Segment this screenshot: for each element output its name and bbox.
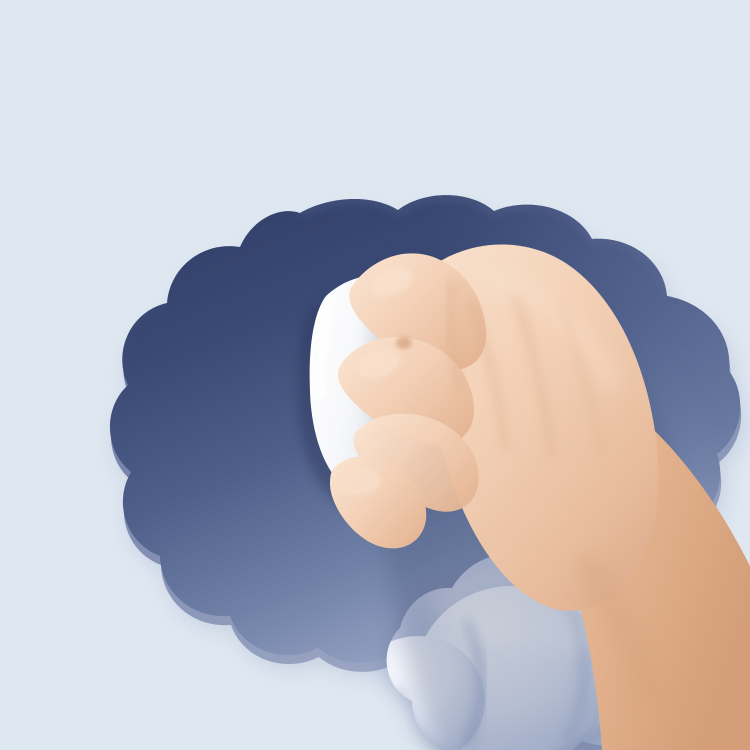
product-photo	[0, 0, 750, 750]
knuckle-dimple	[396, 337, 412, 349]
product-marketing-image: Ergonomic design Elevated wrist height f…	[0, 0, 750, 750]
